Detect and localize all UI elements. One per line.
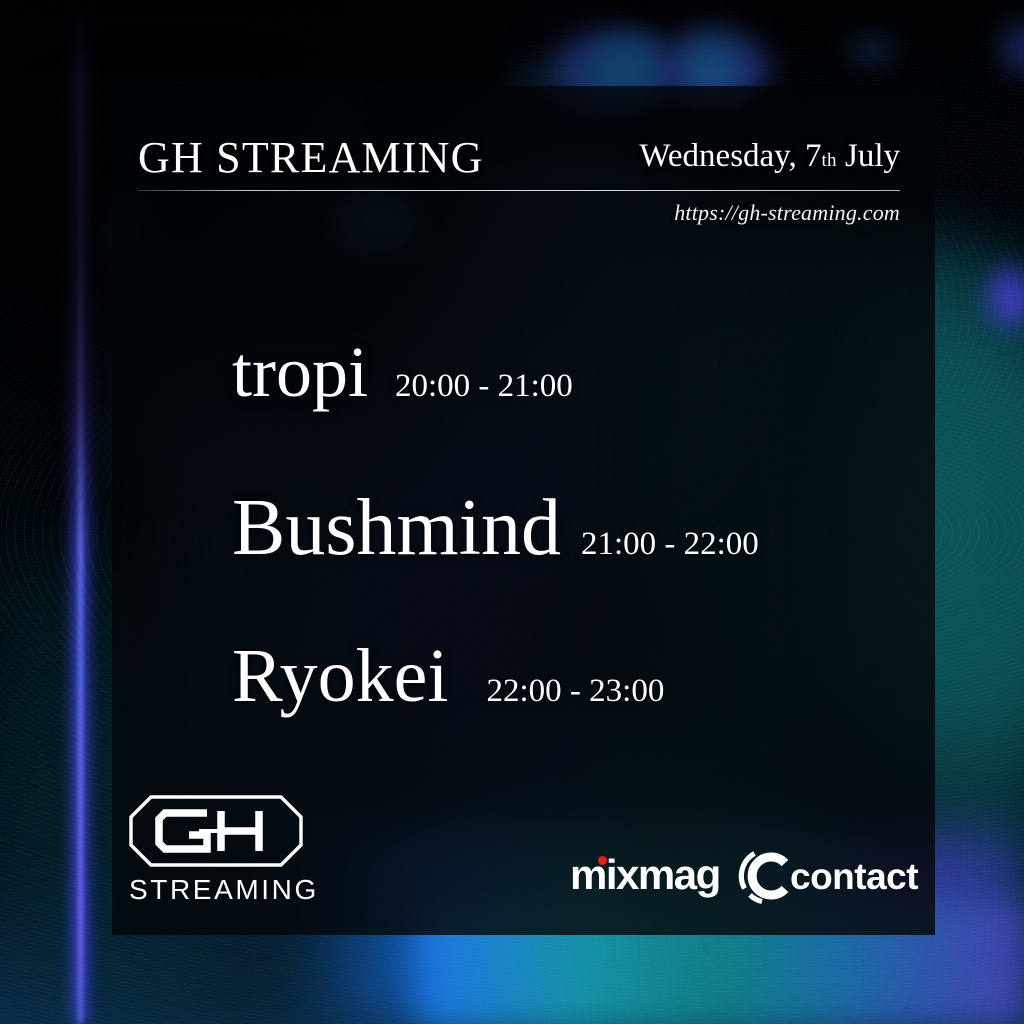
artist-name: tropi	[232, 336, 368, 408]
event-flyer: GH STREAMING Wednesday, 7th July https:/…	[0, 0, 1024, 1024]
contact-wordmark: contact	[790, 858, 918, 895]
gh-octagon-icon	[129, 795, 303, 867]
gh-streaming-wordmark: STREAMING	[129, 876, 303, 904]
event-date: Wednesday, 7th July	[639, 140, 900, 173]
header-divider	[138, 190, 900, 191]
event-url[interactable]: https://gh-streaming.com	[124, 200, 900, 226]
mixmag-wordmark: mixmag	[570, 854, 720, 896]
event-date-suffix: July	[837, 138, 900, 174]
lineup-slot: Bushmind 21:00 - 22:00	[232, 488, 932, 638]
lineup-list: tropi 20:00 - 21:00 Bushmind 21:00 - 22:…	[232, 336, 932, 758]
event-date-prefix: Wednesday, 7	[639, 138, 821, 174]
artist-name: Bushmind	[232, 488, 561, 568]
gh-streaming-logo: STREAMING	[129, 795, 309, 904]
sponsor-logos: mixmag contact	[570, 845, 920, 911]
artist-name: Ryokei	[232, 638, 449, 714]
mixmag-logo[interactable]: mixmag	[570, 854, 720, 896]
mixmag-text: mixmag	[570, 851, 720, 898]
lineup-slot: tropi 20:00 - 21:00	[232, 336, 932, 488]
contact-logo[interactable]: contact	[738, 847, 918, 905]
lineup-slot: Ryokei 22:00 - 23:00	[232, 638, 932, 758]
artist-time: 22:00 - 23:00	[487, 675, 665, 708]
mixmag-red-dot-icon	[598, 856, 607, 865]
artist-time: 20:00 - 21:00	[395, 370, 573, 403]
header: GH STREAMING Wednesday, 7th July	[138, 136, 900, 188]
event-date-ordinal: th	[822, 150, 837, 171]
artist-time: 21:00 - 22:00	[581, 528, 759, 561]
header-row: GH STREAMING Wednesday, 7th July	[138, 136, 900, 188]
contact-c-icon	[738, 847, 796, 905]
brand-title: GH STREAMING	[138, 136, 484, 180]
